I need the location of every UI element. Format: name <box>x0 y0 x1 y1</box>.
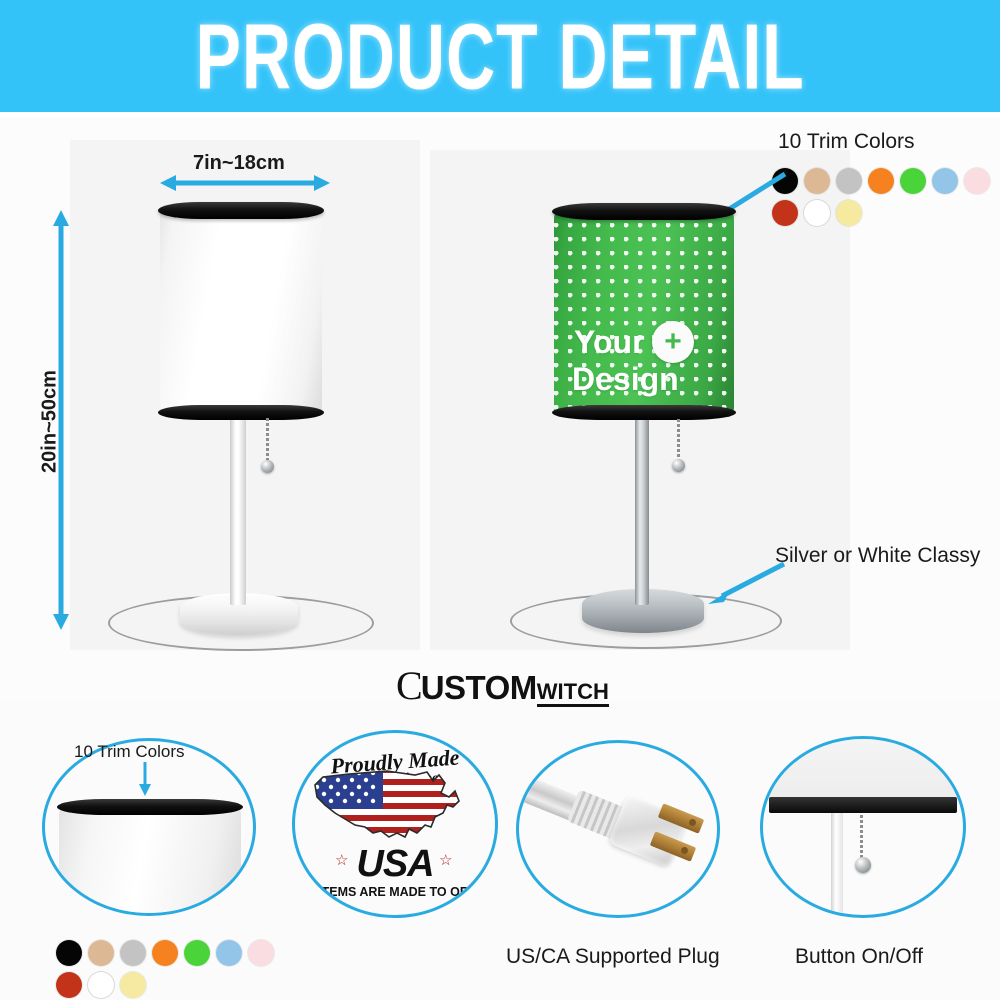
trim-swatch-tan[interactable] <box>88 940 114 966</box>
usa-star-left-icon: ☆ <box>335 851 348 869</box>
trim-color-swatches-bottom[interactable] <box>56 940 302 998</box>
logo-witch-text: WITCH <box>537 681 609 707</box>
plug-label: US/CA Supported Plug <box>506 945 720 969</box>
header-divider <box>0 112 1000 118</box>
design-line-1: Your <box>574 324 645 361</box>
trim-swatch-light-blue[interactable] <box>932 168 958 194</box>
trim-swatch-pink[interactable] <box>964 168 990 194</box>
trim-swatch-orange[interactable] <box>152 940 178 966</box>
trim-swatch-black[interactable] <box>56 940 82 966</box>
width-dimension-arrow-icon <box>160 174 330 192</box>
logo-custom-text: USTOM <box>421 671 537 704</box>
trim-swatch-yellow[interactable] <box>120 972 146 998</box>
brand-logo: C USTOM WITCH <box>396 666 609 707</box>
trim-swatch-light-blue[interactable] <box>216 940 242 966</box>
shade-trim-top <box>158 202 324 219</box>
lamp-pole <box>635 415 649 605</box>
page-title: PRODUCT DETAIL <box>195 3 804 109</box>
pull-chain-ball[interactable] <box>672 459 685 472</box>
shade-surface-closeup <box>59 807 241 916</box>
trim-swatch-orange[interactable] <box>868 168 894 194</box>
trim-swatch-white[interactable] <box>804 200 830 226</box>
shade-trim-closeup <box>57 799 243 815</box>
base-finish-label: Silver or White Classy <box>775 544 980 568</box>
usa-badge: Proudly Made in the <box>295 733 495 915</box>
width-dimension-label: 7in~18cm <box>193 152 285 175</box>
switch-label: Button On/Off <box>795 945 923 969</box>
add-design-plus-badge[interactable]: + <box>652 321 694 363</box>
trim-colors-detail-label: 10 Trim Colors <box>74 742 185 762</box>
trim-swatch-tan[interactable] <box>804 168 830 194</box>
trim-swatch-green[interactable] <box>184 940 210 966</box>
pull-chain-closeup[interactable] <box>860 815 863 861</box>
pull-chain-ball[interactable] <box>261 460 274 473</box>
shade-trim-closeup <box>769 797 957 813</box>
pull-chain[interactable] <box>266 418 269 466</box>
trim-color-swatches-top[interactable] <box>772 168 1000 226</box>
usa-word: USA <box>356 843 433 886</box>
trim-swatch-white[interactable] <box>88 972 114 998</box>
plug-prong-hole-top <box>689 819 696 826</box>
shade-trim-top <box>552 203 736 220</box>
detail-circle-switch <box>760 736 966 918</box>
detail-circle-made-in-usa: Proudly Made in the <box>292 730 498 918</box>
trim-detail-arrow-icon <box>138 762 152 796</box>
height-dimension-arrow-icon <box>52 210 70 630</box>
trim-swatch-pink[interactable] <box>248 940 274 966</box>
trim-swatch-green[interactable] <box>900 168 926 194</box>
plus-icon: + <box>664 327 682 357</box>
lamp-shade-green: Your + Design <box>554 209 734 417</box>
lamp-pole-closeup <box>831 813 843 915</box>
usa-map-flag-icon <box>309 767 481 845</box>
lamp-pole <box>230 415 246 605</box>
logo-c-mark-icon: C <box>396 666 421 706</box>
shade-bottom-closeup <box>763 739 963 801</box>
usa-star-right-icon: ☆ <box>439 851 452 869</box>
detail-circle-plug <box>516 740 720 918</box>
product-detail-page: PRODUCT DETAIL 10 Trim Colors 7in~18cm 2… <box>0 0 1000 1000</box>
lamp-shade-white <box>160 208 322 416</box>
trim-swatch-yellow[interactable] <box>836 200 862 226</box>
base-finish-pointer-arrow-icon <box>700 558 790 606</box>
trim-colors-top-label: 10 Trim Colors <box>778 130 915 154</box>
design-line-2: Design <box>572 361 679 398</box>
trim-swatch-gray[interactable] <box>120 940 146 966</box>
shade-surface <box>160 208 322 416</box>
header-banner: PRODUCT DETAIL <box>0 0 1000 112</box>
pull-chain-ball-closeup[interactable] <box>855 857 871 873</box>
trim-swatch-gray[interactable] <box>836 168 862 194</box>
trim-swatch-red[interactable] <box>56 972 82 998</box>
shade-trim-bottom <box>552 405 736 420</box>
white-lamp <box>118 200 378 650</box>
usa-subtitle: ALL ITEMS ARE MADE TO ORDER! <box>292 885 498 899</box>
plug-prong-hole-bottom <box>681 847 688 854</box>
shade-trim-bottom <box>158 405 324 420</box>
